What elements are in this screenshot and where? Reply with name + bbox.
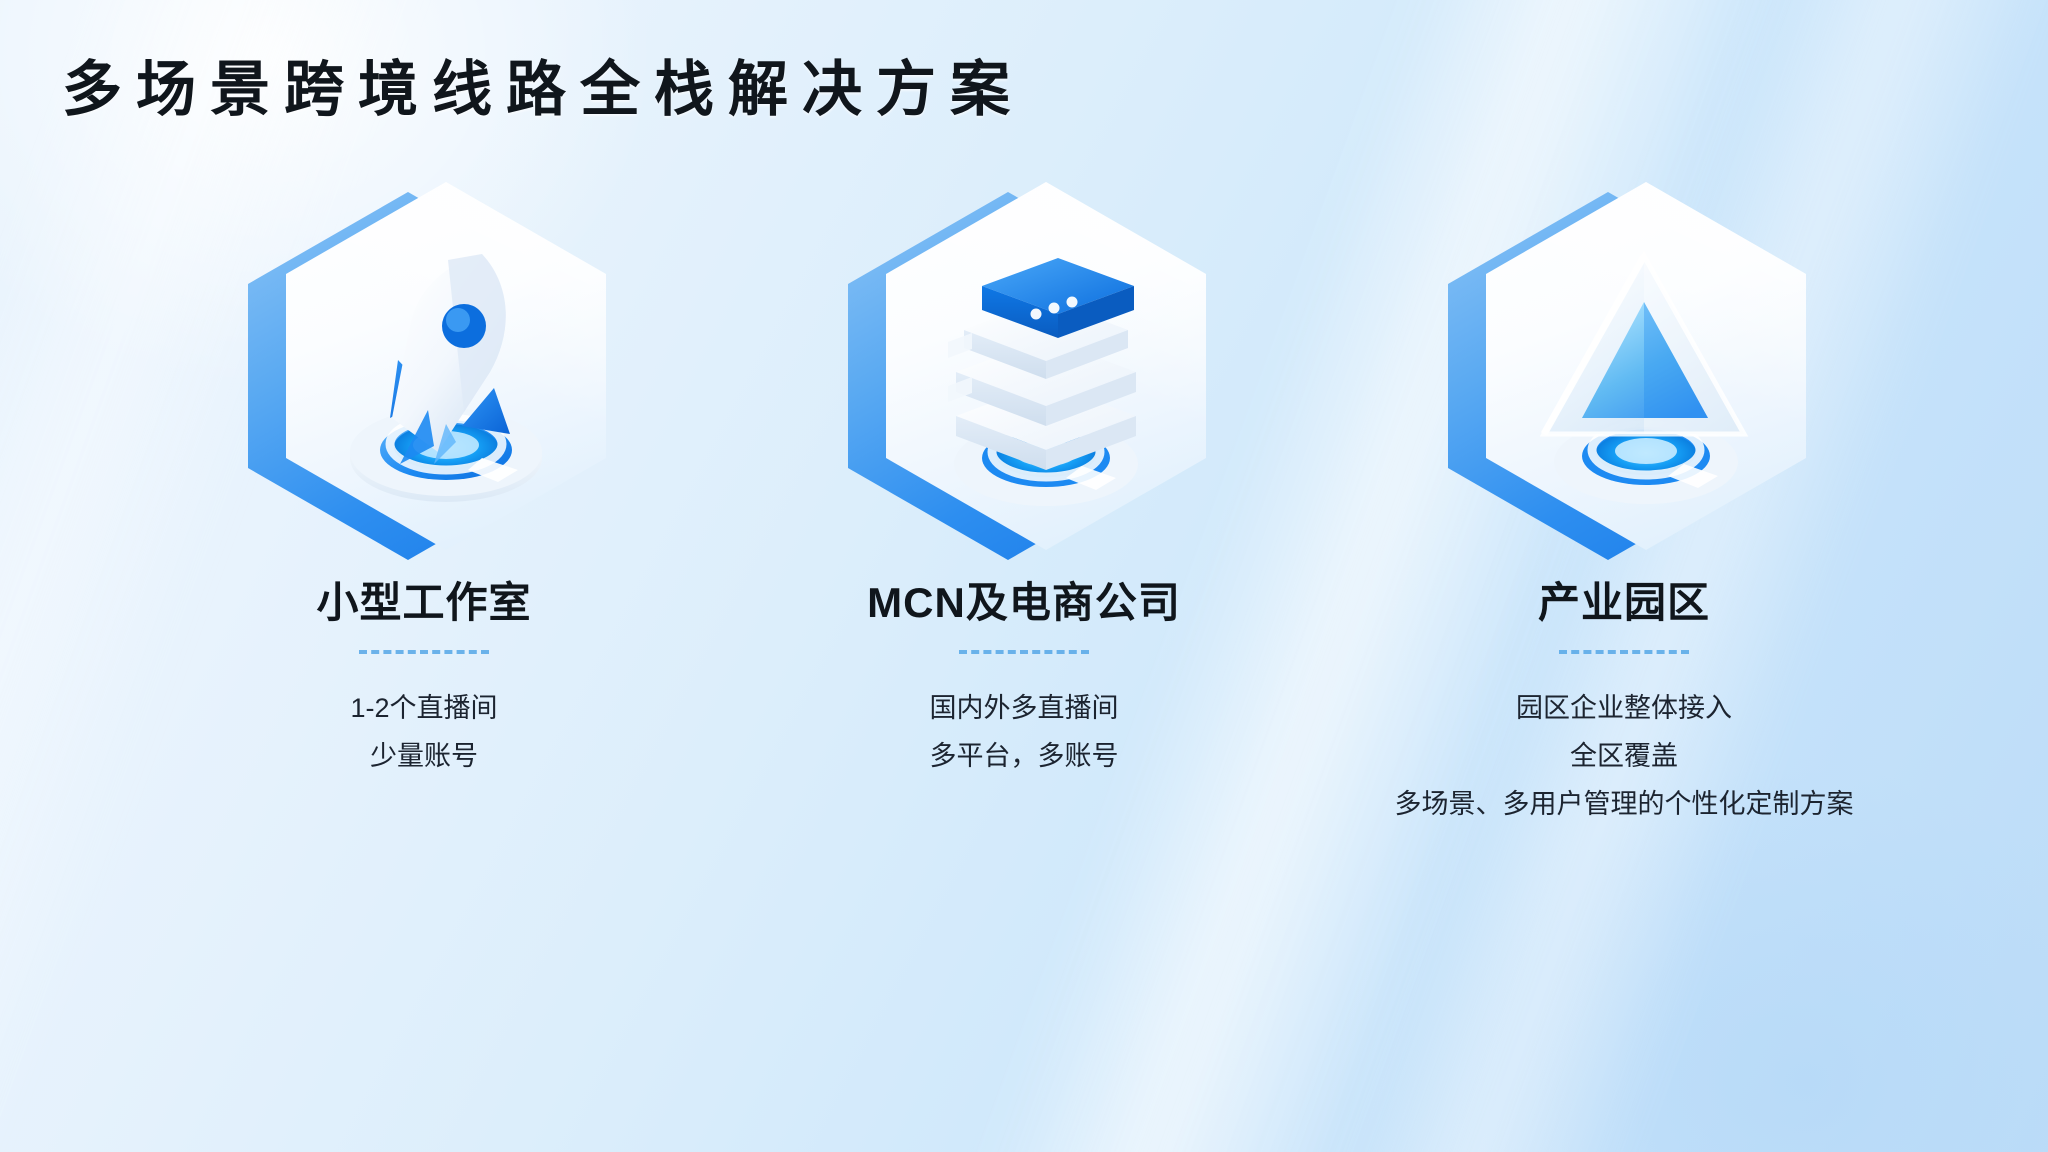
card-desc-line: 国内外多直播间 (930, 684, 1119, 732)
card-description: 国内外多直播间 多平台，多账号 (930, 684, 1119, 780)
card-divider (359, 650, 489, 654)
card-row: 小型工作室 1-2个直播间 少量账号 (0, 176, 2048, 829)
card-title: 产业园区 (1538, 578, 1710, 628)
page-title: 多场景跨境线路全栈解决方案 (62, 52, 1024, 127)
card-title: MCN及电商公司 (867, 578, 1181, 628)
card-mcn-ecommerce[interactable]: MCN及电商公司 国内外多直播间 多平台，多账号 (724, 176, 1324, 780)
card-divider (1559, 650, 1689, 654)
card-industrial-park[interactable]: 产业园区 园区企业整体接入 全区覆盖 多场景、多用户管理的个性化定制方案 (1324, 176, 1924, 829)
card-desc-line: 多平台，多账号 (930, 732, 1119, 780)
card-description: 园区企业整体接入 全区覆盖 多场景、多用户管理的个性化定制方案 (1395, 684, 1854, 828)
card-desc-line: 1-2个直播间 (350, 684, 497, 732)
card-desc-line: 多场景、多用户管理的个性化定制方案 (1395, 780, 1854, 828)
card-divider (959, 650, 1089, 654)
card-title: 小型工作室 (316, 578, 531, 628)
hexagon-badge (1424, 176, 1824, 576)
hexagon-badge (224, 176, 624, 576)
hexagon-badge (824, 176, 1224, 576)
card-desc-line: 少量账号 (350, 732, 497, 780)
card-small-studio[interactable]: 小型工作室 1-2个直播间 少量账号 (124, 176, 724, 780)
card-desc-line: 全区覆盖 (1395, 732, 1854, 780)
card-desc-line: 园区企业整体接入 (1395, 684, 1854, 732)
card-description: 1-2个直播间 少量账号 (350, 684, 497, 780)
slide-root: 多场景跨境线路全栈解决方案 (0, 0, 2048, 1152)
